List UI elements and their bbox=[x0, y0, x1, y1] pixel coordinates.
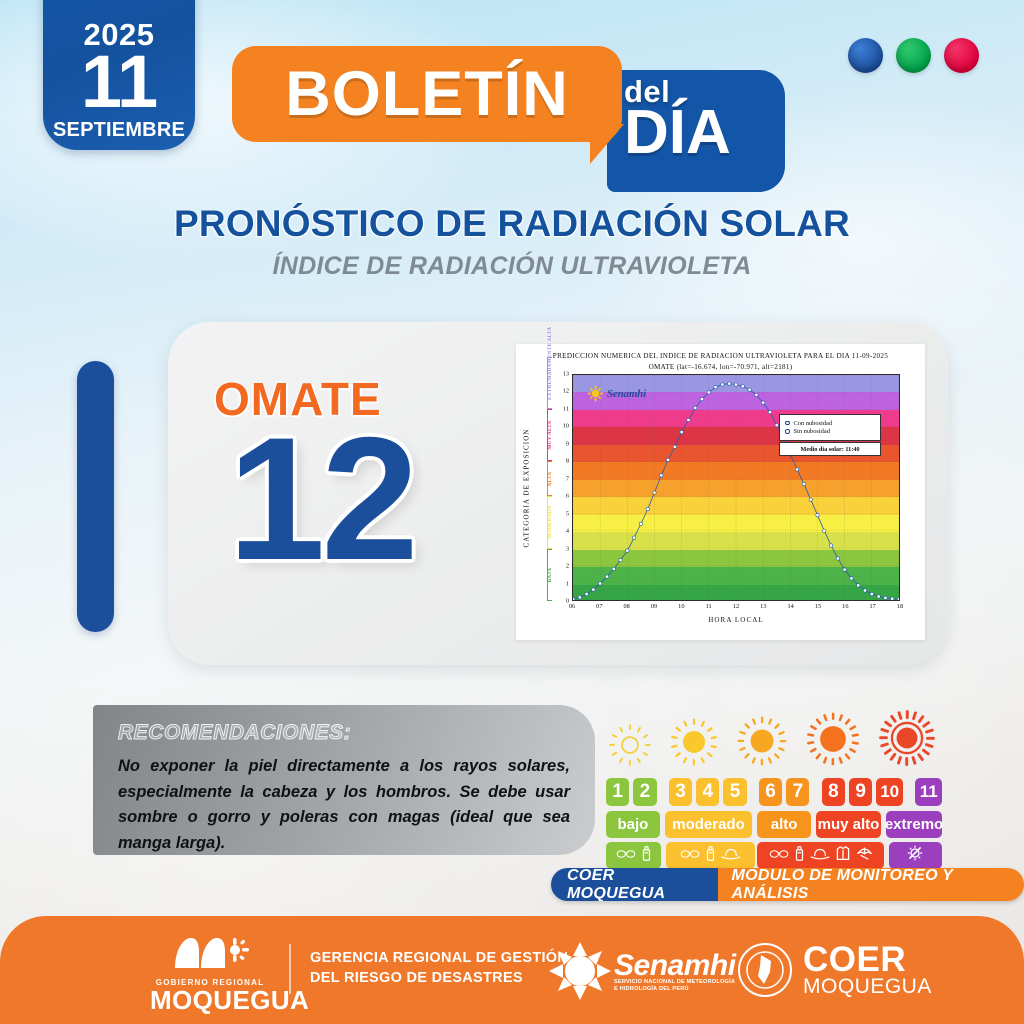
number-group-gap bbox=[907, 778, 911, 806]
number-group-gap bbox=[661, 778, 665, 806]
x-tick-label: 15 bbox=[815, 603, 821, 610]
dot-green-icon bbox=[896, 38, 931, 73]
uv-level-icons-extremo bbox=[889, 842, 942, 869]
x-tick-label: 17 bbox=[870, 603, 876, 610]
gerencia-line-1: GERENCIA REGIONAL DE GESTIÓN bbox=[310, 949, 568, 969]
chart-y-axis-label: CATEGORIA DE EXPOSICION bbox=[521, 374, 533, 601]
glasses-icon bbox=[769, 847, 789, 865]
glasses-icon bbox=[680, 847, 700, 865]
uv-scale-labels: bajomoderadoaltomuy altoextremo bbox=[606, 811, 942, 838]
banner-dia-text: DÍA bbox=[624, 102, 731, 164]
uv-number-6: 6 bbox=[759, 778, 782, 806]
x-tick-label: 13 bbox=[760, 603, 766, 610]
glasses-icon bbox=[616, 847, 636, 865]
coer-logo: COER MOQUEGUA bbox=[737, 942, 932, 998]
banner-boletin-text: BOLETÍN bbox=[285, 58, 569, 130]
chart-data-curve bbox=[573, 375, 899, 600]
no-sun-icon bbox=[907, 845, 923, 866]
gerencia-line-2: DEL RIESGO DE DESASTRES bbox=[310, 969, 568, 989]
uv-number-10: 10 bbox=[876, 778, 903, 806]
y-tick-label: 2 bbox=[566, 563, 569, 570]
moquegua-logo: GOBIERNO REGIONAL MOQUEGUA bbox=[150, 934, 270, 1013]
number-group-gap bbox=[751, 778, 755, 806]
sun-moderate bbox=[669, 717, 719, 772]
uv-number-3: 3 bbox=[669, 778, 692, 806]
chart-x-ticks: 06070809101112131415161718 bbox=[572, 602, 900, 614]
x-tick-label: 08 bbox=[624, 603, 630, 610]
uv-number-4: 4 bbox=[696, 778, 719, 806]
chart-legend: Con nubosidad Sin nubosidad bbox=[779, 414, 881, 441]
senamhi-sub-line-1: SERVICIO NACIONAL DE METEOROLOGÍA bbox=[614, 979, 736, 986]
chart-y-ticks: 012345678910111213 bbox=[552, 374, 569, 601]
uv-number-5: 5 bbox=[723, 778, 746, 806]
y-tick-label: 1 bbox=[566, 580, 569, 587]
hat-icon bbox=[721, 847, 741, 865]
card-accent-bar bbox=[77, 361, 114, 632]
x-tick-label: 11 bbox=[706, 603, 712, 610]
senamhi-watermark-text: Senamhi bbox=[607, 388, 646, 400]
chart-plot-area: Senamhi Con nubosidad Sin nubosidad Medi… bbox=[572, 374, 900, 601]
page-title: PRONÓSTICO DE RADIACIÓN SOLAR bbox=[0, 203, 1024, 245]
open-circle-icon bbox=[785, 421, 790, 426]
gerencia-regional-text: GERENCIA REGIONAL DE GESTIÓN DEL RIESGO … bbox=[310, 949, 568, 988]
y-tick-label: 5 bbox=[566, 510, 569, 517]
x-tick-label: 10 bbox=[678, 603, 684, 610]
chart-subtitle: OMATE (lat=-16.674, lon=-70.971, alt=218… bbox=[516, 363, 925, 371]
open-circle-icon bbox=[785, 429, 790, 434]
uv-scale-protection-icons bbox=[606, 842, 942, 869]
page-subtitle: ÍNDICE DE RADIACIÓN ULTRAVIOLETA bbox=[0, 252, 1024, 281]
recommendations-title: RECOMENDACIONES: bbox=[118, 721, 351, 745]
senamhi-sun-icon bbox=[549, 942, 611, 1000]
x-tick-label: 14 bbox=[788, 603, 794, 610]
solar-noon-annotation: Medio dia solar: 11:40 bbox=[779, 442, 881, 456]
page-footer: GOBIERNO REGIONAL MOQUEGUA GERENCIA REGI… bbox=[0, 916, 1024, 1024]
sun-extreme bbox=[878, 709, 936, 772]
uv-forecast-chart: PREDICCION NUMERICA DEL INDICE DE RADIAC… bbox=[516, 344, 925, 640]
coer-banner-right: MÓDULO DE MONITOREO Y ANÁLISIS bbox=[718, 868, 1024, 901]
number-group-gap bbox=[813, 778, 817, 806]
senamhi-logo: Senamhi SERVICIO NACIONAL DE METEOROLOGÍ… bbox=[549, 942, 736, 1000]
uv-number-11: 11 bbox=[915, 778, 942, 806]
moquegua-label: MOQUEGUA bbox=[150, 987, 270, 1013]
uv-number-8: 8 bbox=[822, 778, 845, 806]
umbrella-icon bbox=[856, 845, 873, 866]
uv-index-value: 12 bbox=[228, 412, 415, 587]
sun-low bbox=[608, 723, 652, 772]
x-tick-label: 18 bbox=[897, 603, 903, 610]
y-tick-label: 11 bbox=[563, 405, 569, 412]
decorative-dots bbox=[848, 38, 979, 73]
uv-number-1: 1 bbox=[606, 778, 629, 806]
legend-item-con-nubosidad: Con nubosidad bbox=[785, 420, 875, 427]
coer-banner-left: COER MOQUEGUA bbox=[551, 868, 718, 901]
uv-level-muy-alto: muy alto bbox=[816, 811, 881, 838]
legend-item-sin-nubosidad: Sin nubosidad bbox=[785, 428, 875, 435]
x-tick-label: 09 bbox=[651, 603, 657, 610]
chart-x-axis-label: HORA LOCAL bbox=[572, 616, 900, 624]
uv-level-alto: alto bbox=[757, 811, 811, 838]
senamhi-subtitle: SERVICIO NACIONAL DE METEOROLOGÍA E HIDR… bbox=[614, 979, 736, 994]
uv-number-2: 2 bbox=[633, 778, 656, 806]
recommendations-panel: RECOMENDACIONES: No exponer la piel dire… bbox=[93, 705, 595, 855]
y-tick-label: 3 bbox=[566, 545, 569, 552]
uv-level-bajo: bajo bbox=[606, 811, 660, 838]
y-tick-label: 6 bbox=[566, 493, 569, 500]
coer-logo-text: COER MOQUEGUA bbox=[803, 943, 932, 997]
chart-y-axis-label-text: CATEGORIA DE EXPOSICION bbox=[523, 428, 531, 547]
recommendations-text: No exponer la piel directamente a los ra… bbox=[118, 754, 570, 856]
uv-level-icons-bajo bbox=[606, 842, 661, 869]
y-tick-label: 10 bbox=[563, 423, 569, 430]
y-tick-label: 4 bbox=[566, 528, 569, 535]
coer-banner: COER MOQUEGUA MÓDULO DE MONITOREO Y ANÁL… bbox=[551, 868, 1024, 901]
y-tick-label: 9 bbox=[566, 440, 569, 447]
sun-icon bbox=[587, 385, 604, 402]
legend-label: Sin nubosidad bbox=[794, 428, 830, 435]
x-tick-label: 16 bbox=[842, 603, 848, 610]
uv-level-icons-moderado bbox=[666, 842, 755, 869]
x-tick-label: 12 bbox=[733, 603, 739, 610]
x-tick-label: 07 bbox=[596, 603, 602, 610]
shirt-icon bbox=[835, 845, 851, 866]
date-badge: 2025 11 SEPTIEMBRE bbox=[43, 0, 195, 150]
coer-sub-label: MOQUEGUA bbox=[803, 976, 932, 997]
senamhi-name: Senamhi bbox=[614, 949, 736, 983]
chart-title: PREDICCION NUMERICA DEL INDICE DE RADIAC… bbox=[516, 352, 925, 360]
dot-blue-icon bbox=[848, 38, 883, 73]
senamhi-watermark: Senamhi bbox=[587, 385, 646, 402]
uv-number-7: 7 bbox=[786, 778, 809, 806]
uv-scale-sun-icons bbox=[606, 716, 942, 772]
sunscreen-icon bbox=[705, 846, 716, 866]
date-month: SEPTIEMBRE bbox=[53, 119, 185, 142]
y-tick-label: 13 bbox=[563, 371, 569, 378]
sunscreen-icon bbox=[641, 846, 652, 866]
footer-divider bbox=[289, 944, 291, 994]
legend-label: Con nubosidad bbox=[794, 420, 833, 427]
sun-high bbox=[736, 715, 788, 772]
uv-level-extremo: extremo bbox=[886, 811, 942, 838]
y-tick-label: 8 bbox=[566, 458, 569, 465]
hat-icon bbox=[810, 847, 830, 865]
uv-index-scale: 1234567891011 bajomoderadoaltomuy altoex… bbox=[606, 716, 942, 869]
y-tick-label: 12 bbox=[563, 388, 569, 395]
dot-red-icon bbox=[944, 38, 979, 73]
date-day: 11 bbox=[81, 48, 157, 117]
uv-number-9: 9 bbox=[849, 778, 872, 806]
sunscreen-icon bbox=[794, 846, 805, 866]
x-tick-label: 06 bbox=[569, 603, 575, 610]
coer-seal-icon bbox=[737, 942, 793, 998]
moquegua-emblem-icon bbox=[165, 934, 255, 972]
sun-very-high bbox=[805, 711, 861, 772]
uv-level-icons-muy-alto bbox=[757, 842, 883, 869]
banner-orange-block: BOLETÍN bbox=[232, 46, 622, 142]
y-tick-label: 7 bbox=[566, 475, 569, 482]
senamhi-sub-line-2: E HIDROLOGÍA DEL PERÚ bbox=[614, 986, 736, 993]
uv-scale-numbers: 1234567891011 bbox=[606, 778, 942, 806]
uv-level-moderado: moderado bbox=[665, 811, 752, 838]
coer-main-label: COER bbox=[803, 943, 932, 976]
